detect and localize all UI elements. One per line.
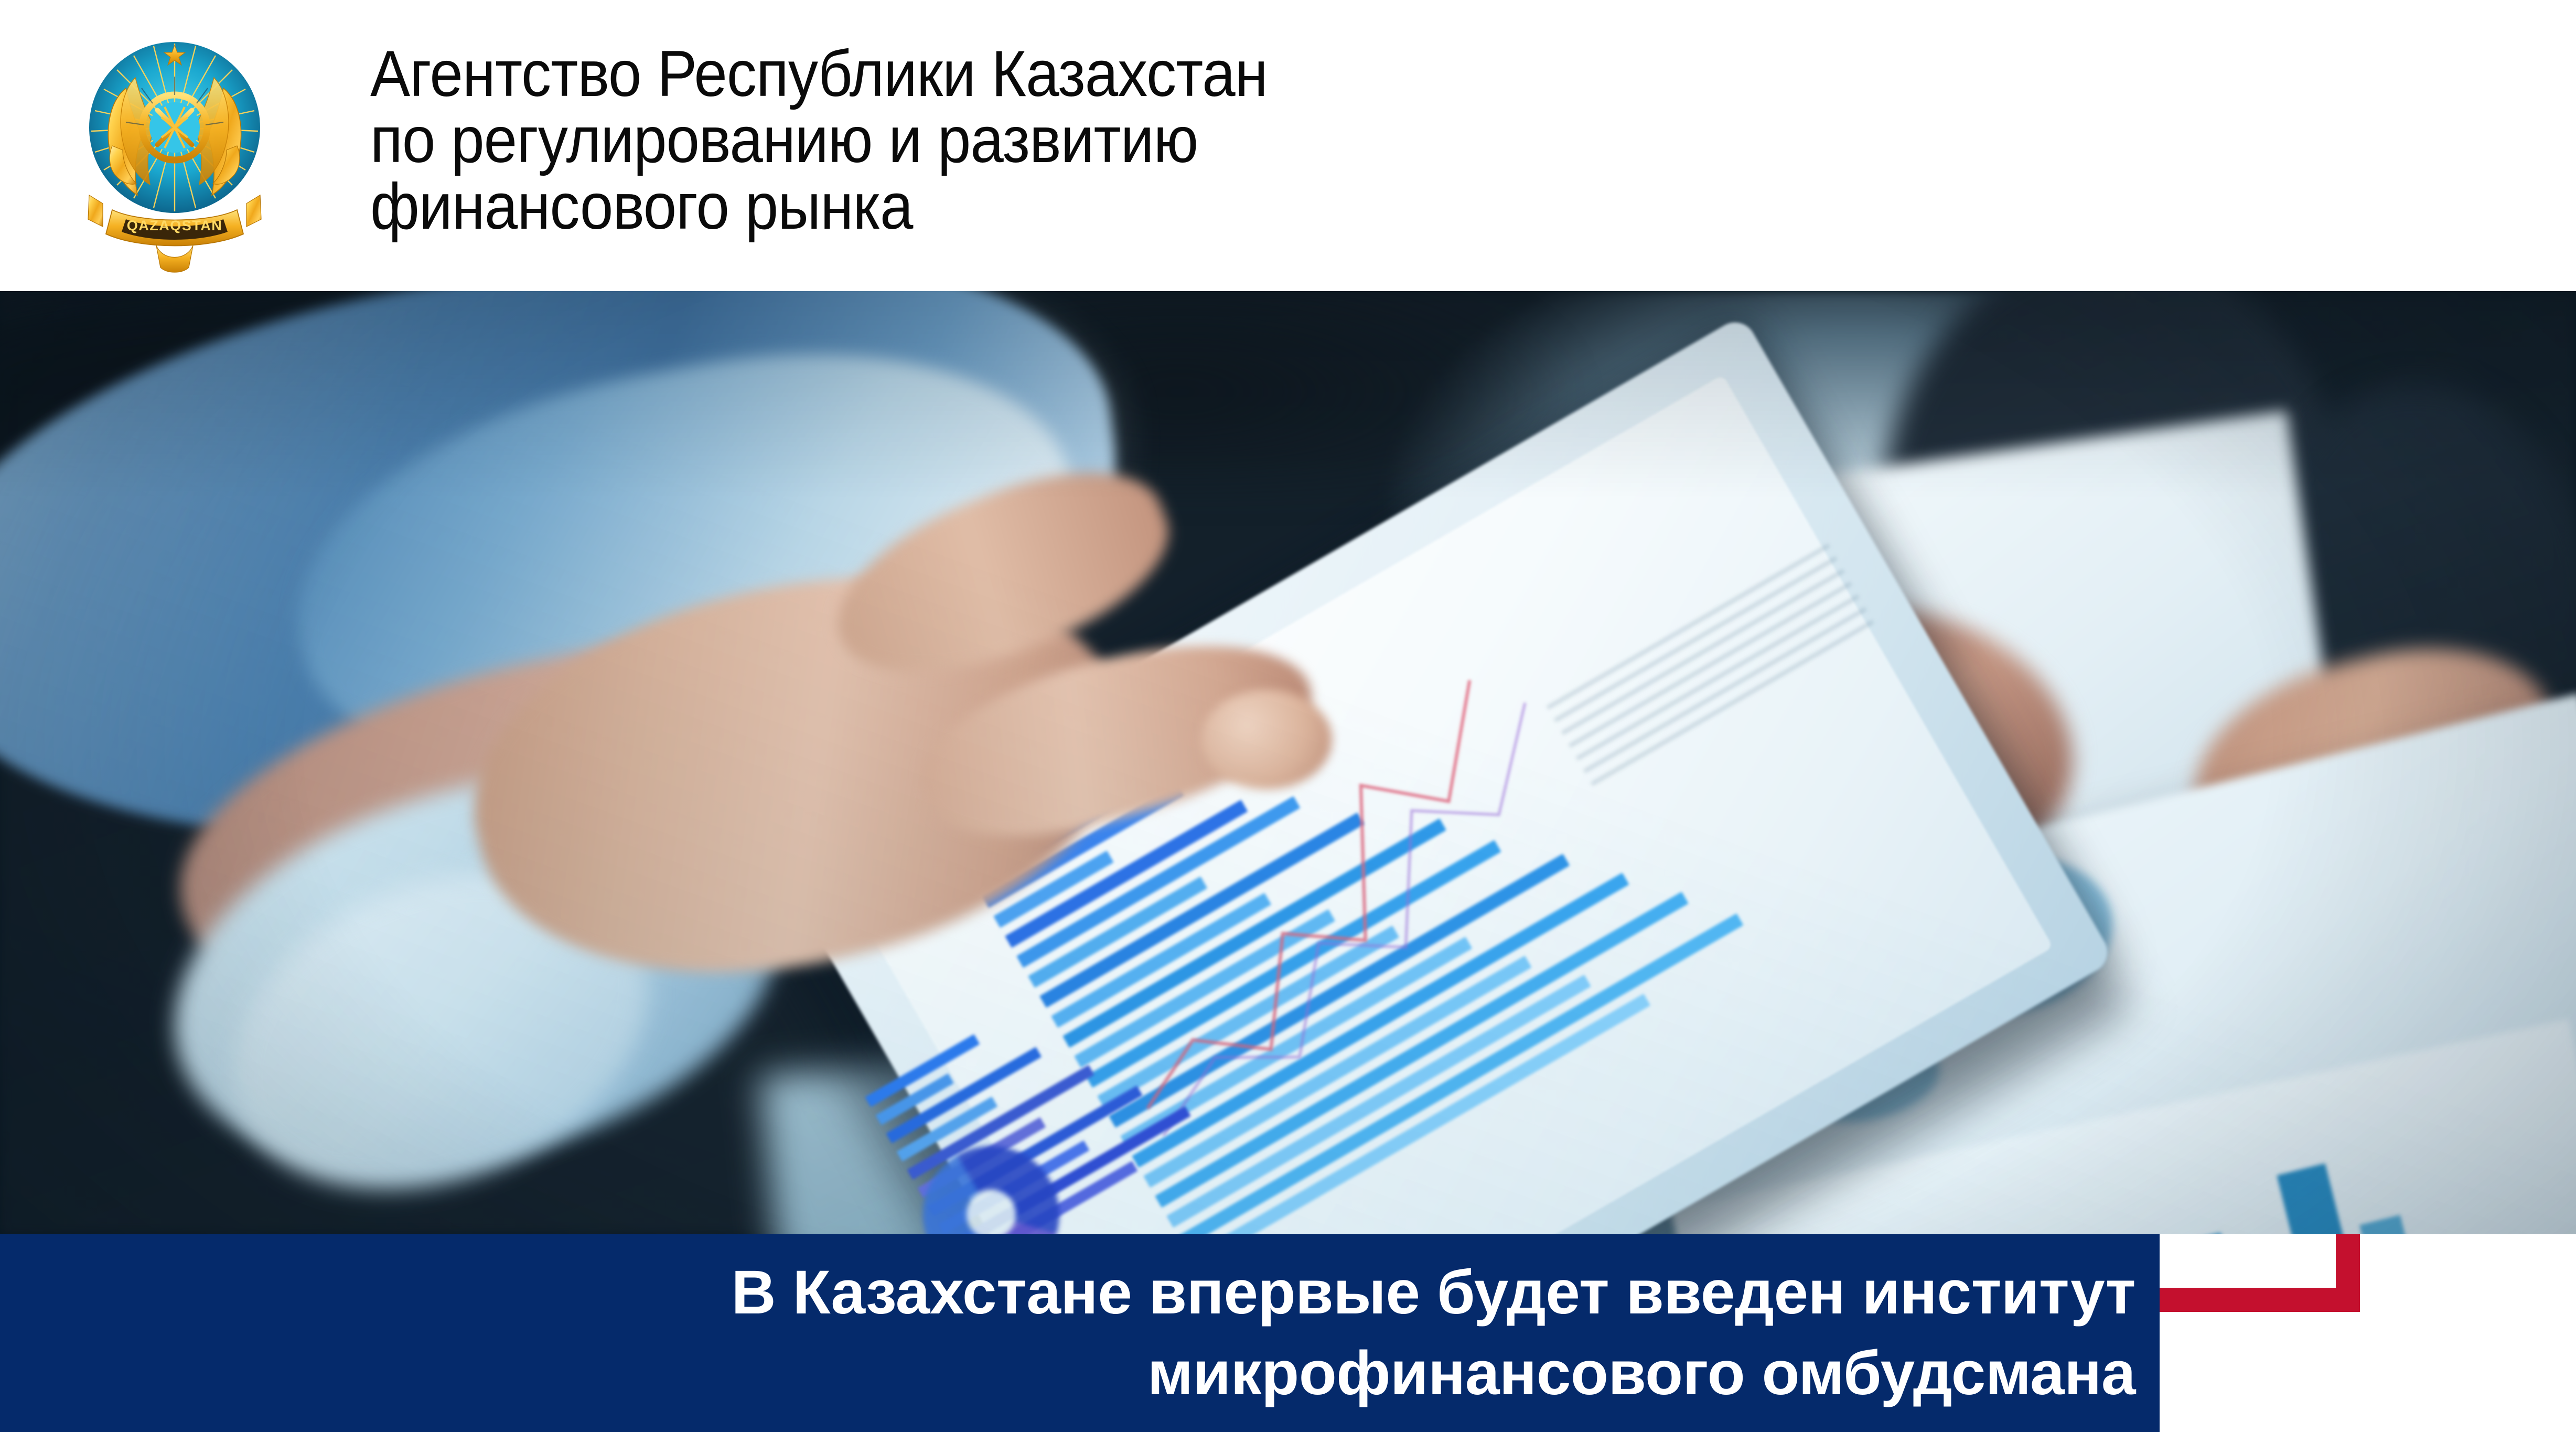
coat-of-arms-of-kazakhstan-icon: QAZAQSTAN: [78, 15, 272, 277]
header-bar: QAZAQSTAN Агентство Республики Казахстан…: [0, 0, 2576, 291]
hero-photo-canvas: [0, 291, 2576, 1234]
headline-banner: В Казахстане впервые будет введен инстит…: [0, 1234, 2160, 1432]
photo-layer-fingertip: [1201, 690, 1332, 789]
press-release-slide: QAZAQSTAN Агентство Республики Казахстан…: [0, 0, 2576, 1432]
headline-text: В Казахстане впервые будет введен инстит…: [731, 1253, 2160, 1414]
emblem-scroll-text: QAZAQSTAN: [127, 218, 223, 233]
hero-photo: [0, 291, 2576, 1234]
page-title: Агентство Республики Казахстан по регули…: [370, 41, 1432, 240]
